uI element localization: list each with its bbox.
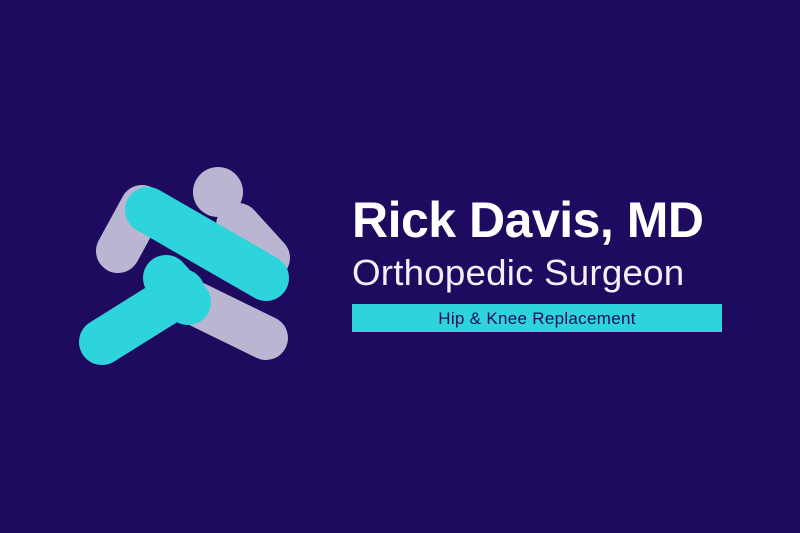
- brand-role: Orthopedic Surgeon: [352, 250, 731, 296]
- brand-text-block: Rick Davis, MD Orthopedic Surgeon Hip & …: [352, 192, 724, 332]
- brand-name: Rick Davis, MD: [352, 192, 724, 248]
- business-card-canvas: Rick Davis, MD Orthopedic Surgeon Hip & …: [0, 0, 800, 533]
- tagline-banner: Hip & Knee Replacement: [352, 304, 722, 332]
- tagline-text: Hip & Knee Replacement: [438, 310, 636, 327]
- running-figure-svg: [70, 150, 310, 380]
- front-leg-knee-shape: [166, 278, 188, 302]
- running-figure-icon: [70, 150, 310, 380]
- head-shape: [193, 167, 243, 217]
